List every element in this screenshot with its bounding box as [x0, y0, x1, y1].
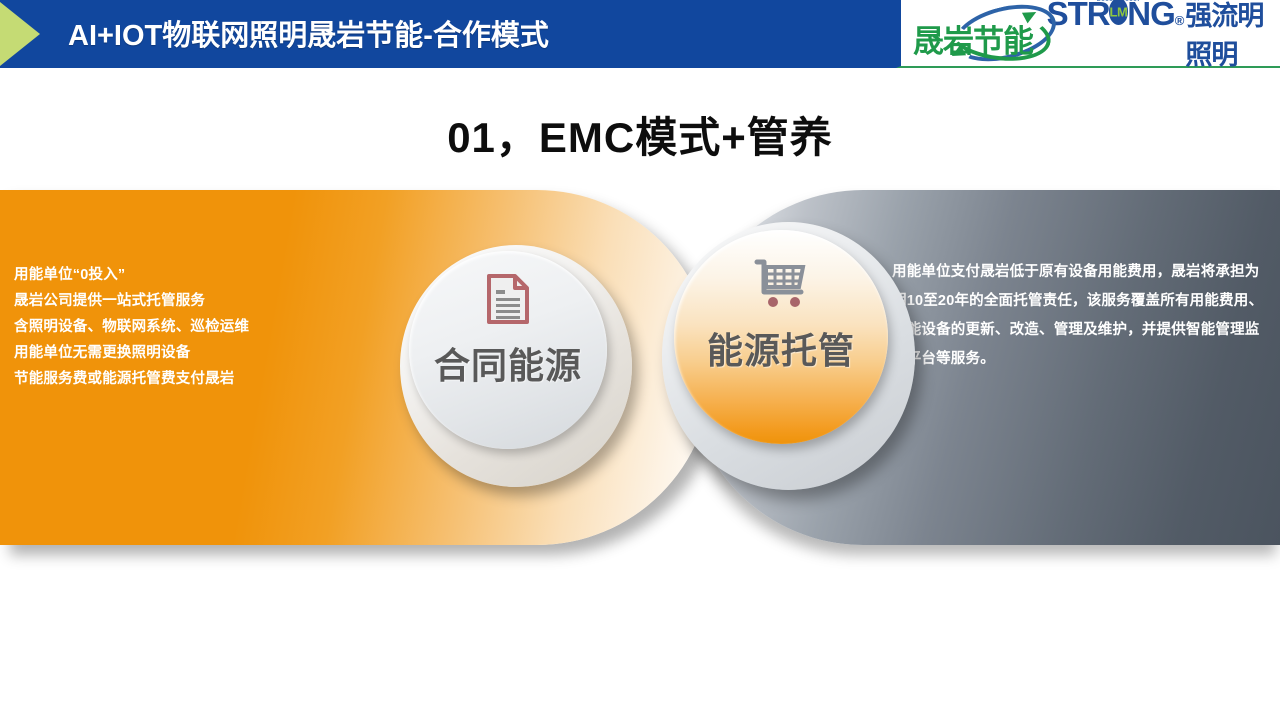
circle-inner-face: 能源托管: [674, 230, 888, 444]
chevron-accent-icon: [0, 0, 46, 68]
header-bar: AI+IOT物联网照明晟岩节能-合作模式 晟岩节能 STR LM NG: [0, 0, 1280, 68]
right-panel-body: 用能单位支付晟岩低于原有设备用能费用，晟岩将承担为期10至20年的全面托管责任，…: [892, 258, 1274, 374]
lm-badge-text: LM: [1110, 4, 1128, 19]
circle-label-energy-hosting: 能源托管: [674, 322, 888, 374]
circle-contract-energy[interactable]: 合同能源: [400, 245, 632, 487]
strong-logo-head: STR: [1047, 0, 1110, 33]
circle-energy-hosting[interactable]: 能源托管: [662, 222, 915, 490]
document-icon: [409, 273, 607, 330]
list-item: 用能单位“0投入”: [14, 262, 344, 288]
circle-inner-face: 合同能源: [409, 251, 607, 449]
strong-logo-sub: 强流明照明: [1185, 0, 1280, 72]
page-title: 01，EMC模式+管养: [0, 104, 1280, 165]
shengyan-logo: 晟岩节能: [907, 5, 1041, 61]
registered-mark: ®: [1175, 13, 1185, 28]
shopping-cart-icon: [674, 258, 888, 313]
list-item: 含照明设备、物联网系统、巡检运维: [14, 314, 344, 340]
circle-label-contract-energy: 合同能源: [409, 337, 607, 389]
strong-logo: STR LM NG ® 强流明照明: [1047, 0, 1280, 72]
brand-logo: 晟岩节能 STR LM NG ® 强流明照明: [896, 0, 1280, 68]
header-title: AI+IOT物联网照明晟岩节能-合作模式: [68, 12, 549, 54]
list-item: 节能服务费或能源托管费支付晟岩: [14, 366, 344, 392]
lm-badge-icon: LM: [1109, 0, 1129, 25]
strong-logo-tail: NG: [1127, 0, 1175, 33]
left-panel-bullet-list: 用能单位“0投入” 晟岩公司提供一站式托管服务 含照明设备、物联网系统、巡检运维…: [14, 262, 344, 392]
slide-root: AI+IOT物联网照明晟岩节能-合作模式 晟岩节能 STR LM NG: [0, 0, 1280, 720]
shengyan-logo-text: 晟岩节能: [913, 16, 1033, 61]
list-item: 用能单位无需更换照明设备: [14, 340, 344, 366]
list-item: 晟岩公司提供一站式托管服务: [14, 288, 344, 314]
